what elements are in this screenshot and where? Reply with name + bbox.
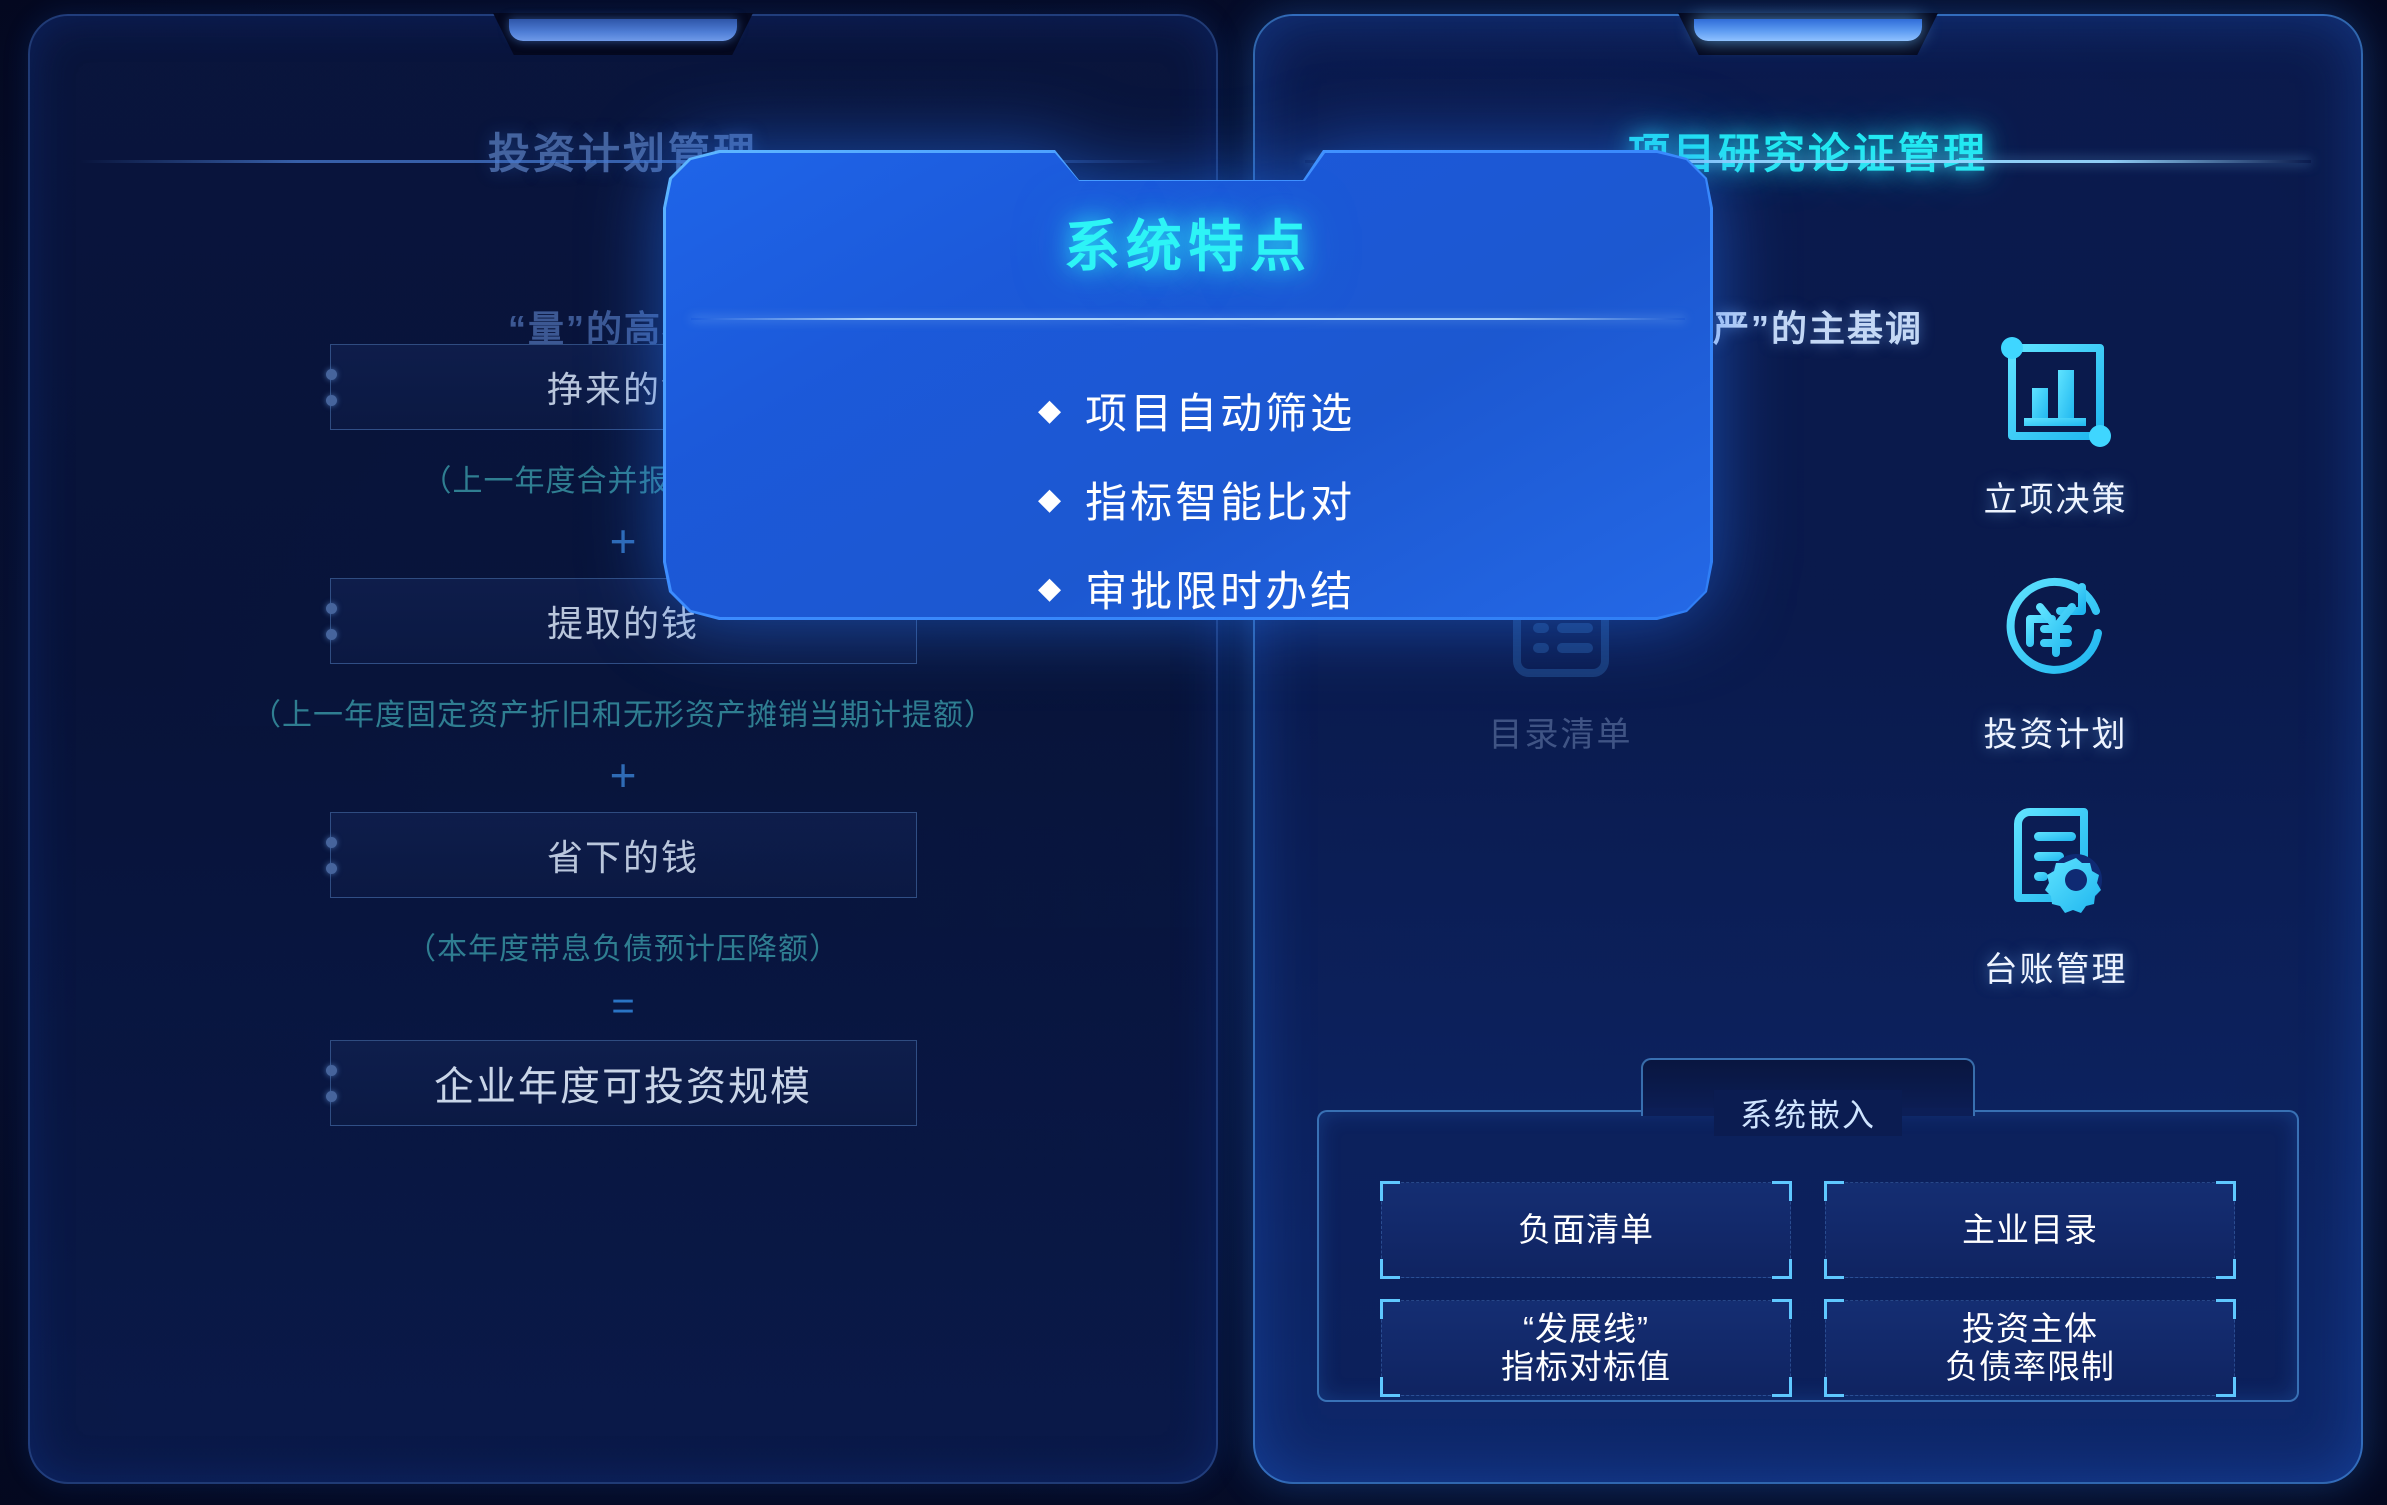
module-item-project-decision[interactable]: 立项决策 (1808, 332, 2303, 521)
embed-cell-investor-debt-ratio-limit[interactable]: 投资主体 负债率限制 (1825, 1300, 2235, 1396)
embed-cell-label-line2: 指标对标值 (1501, 1348, 1671, 1385)
system-embed-section: 系统嵌入 负面清单 主业目录 (1317, 1110, 2299, 1402)
connector-dot-icon (326, 1091, 337, 1102)
corner-bracket-icon (1380, 1181, 1400, 1201)
panel-handle-left (493, 13, 753, 55)
diamond-bullet-icon: ◆ (1038, 485, 1061, 515)
module-label: 台账管理 (1984, 942, 2128, 991)
embed-cell-main-business-catalog[interactable]: 主业目录 (1825, 1182, 2235, 1278)
system-features-card[interactable]: 系统特点 ◆ 项目自动筛选 ◆ 指标智能比对 ◆ 审批限时办结 (663, 150, 1713, 620)
formula-operator-plus: + (28, 752, 1218, 798)
connector-dot-icon (326, 1065, 337, 1076)
embed-cell-label: 主业目录 (1962, 1211, 2098, 1249)
formula-operator-equals: = (28, 986, 1218, 1026)
card-title: 系统特点 (663, 202, 1713, 283)
corner-bracket-icon (1772, 1299, 1792, 1319)
corner-bracket-icon (1824, 1377, 1844, 1397)
embed-cell-label: 负面清单 (1518, 1211, 1654, 1249)
card-content: 系统特点 ◆ 项目自动筛选 ◆ 指标智能比对 ◆ 审批限时办结 (663, 150, 1713, 620)
corner-bracket-icon (1380, 1259, 1400, 1279)
corner-bracket-icon (1380, 1377, 1400, 1397)
corner-bracket-icon (1772, 1259, 1792, 1279)
formula-box: 省下的钱 (330, 812, 917, 898)
corner-bracket-icon (1824, 1181, 1844, 1201)
module-label: 目录清单 (1489, 707, 1633, 756)
card-feature-item: ◆ 指标智能比对 (663, 469, 1713, 530)
card-feature-item: ◆ 审批限时办结 (663, 558, 1713, 619)
system-embed-legend: 系统嵌入 (1714, 1090, 1902, 1136)
system-embed-cell-grid: 负面清单 主业目录 “发展线” 指标对标值 (1319, 1182, 2297, 1396)
connector-dot-icon (326, 603, 337, 614)
corner-bracket-icon (2216, 1259, 2236, 1279)
diamond-bullet-icon: ◆ (1038, 396, 1061, 426)
embed-cell-development-line-benchmark[interactable]: “发展线” 指标对标值 (1381, 1300, 1791, 1396)
embed-cell-label-line1: “发展线” (1523, 1310, 1649, 1347)
card-feature-label: 审批限时办结 (1085, 558, 1355, 619)
corner-bracket-icon (2216, 1377, 2236, 1397)
formula-note: （本年度带息负债预计压降额） (28, 924, 1218, 968)
formula-box-label: 省下的钱 (547, 829, 699, 881)
document-gear-icon (1996, 802, 2116, 922)
corner-bracket-icon (1772, 1377, 1792, 1397)
corner-bracket-icon (1824, 1259, 1844, 1279)
card-feature-item: ◆ 项目自动筛选 (663, 380, 1713, 441)
panel-handle-right (1678, 13, 1938, 55)
module-label: 立项决策 (1984, 472, 2128, 521)
connector-dot-icon (326, 395, 337, 406)
connector-dot-icon (326, 863, 337, 874)
connector-dot-icon (326, 837, 337, 848)
yen-refresh-icon (1996, 567, 2116, 687)
corner-bracket-icon (1824, 1299, 1844, 1319)
corner-bracket-icon (2216, 1299, 2236, 1319)
bar-chart-icon (1996, 332, 2116, 452)
module-item-ledger-management[interactable]: 台账管理 (1808, 802, 2303, 991)
module-label: 投资计划 (1984, 707, 2128, 756)
embed-cell-label: 投资主体 负债率限制 (1945, 1310, 2115, 1387)
corner-bracket-icon (2216, 1181, 2236, 1201)
card-title-divider (691, 318, 1685, 320)
diamond-bullet-icon: ◆ (1038, 574, 1061, 604)
module-item-investment-plan[interactable]: 投资计划 (1808, 567, 2303, 756)
connector-dot-icon (326, 369, 337, 380)
card-feature-label: 项目自动筛选 (1085, 380, 1355, 441)
corner-bracket-icon (1772, 1181, 1792, 1201)
embed-cell-label-line1: 投资主体 (1962, 1310, 2098, 1347)
embed-cell-label: “发展线” 指标对标值 (1501, 1310, 1671, 1387)
corner-bracket-icon (1380, 1299, 1400, 1319)
formula-result-label: 企业年度可投资规模 (434, 1054, 812, 1112)
embed-cell-label-line2: 负债率限制 (1945, 1348, 2115, 1385)
formula-note: （上一年度固定资产折旧和无形资产摊销当期计提额） (28, 690, 1218, 734)
connector-dot-icon (326, 629, 337, 640)
card-feature-list: ◆ 项目自动筛选 ◆ 指标智能比对 ◆ 审批限时办结 (663, 380, 1713, 647)
card-feature-label: 指标智能比对 (1085, 469, 1355, 530)
formula-result-box: 企业年度可投资规模 (330, 1040, 917, 1126)
slide-background: 投资计划管理 “量”的高标准 挣来的钱 （上一年度合并报表净利润） + 提取的钱… (0, 0, 2387, 1505)
embed-cell-negative-list[interactable]: 负面清单 (1381, 1182, 1791, 1278)
